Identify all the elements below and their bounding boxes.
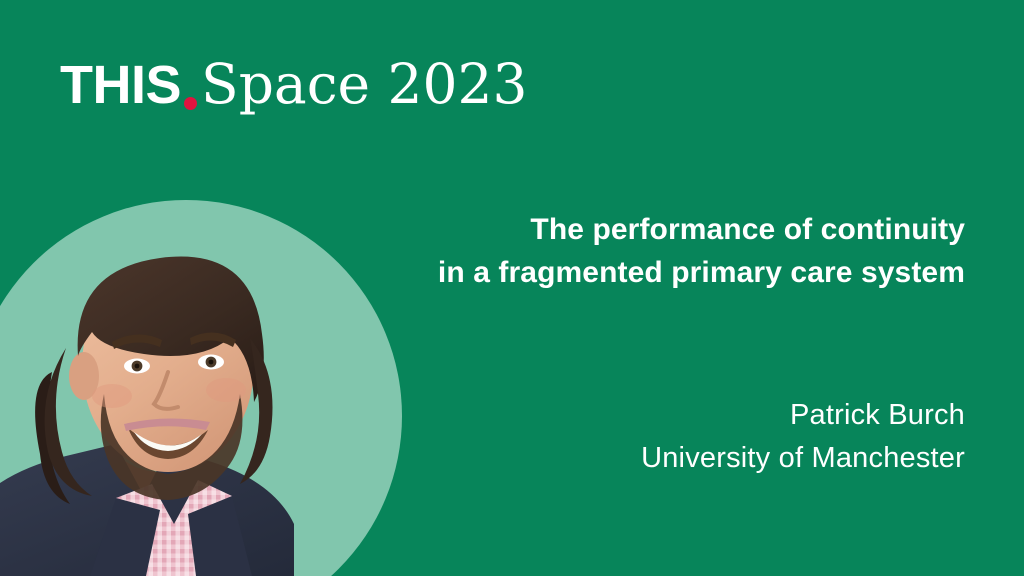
speaker-name: Patrick Burch (325, 394, 965, 437)
speaker-credit: Patrick Burch University of Manchester (325, 394, 965, 480)
portrait-figure (0, 257, 294, 576)
logo-mark-this: THIS (60, 58, 181, 112)
logo-red-dot-icon (184, 97, 197, 110)
cheek-right (206, 378, 246, 402)
speaker-affiliation: University of Manchester (325, 437, 965, 480)
cheek-left (92, 384, 132, 408)
speaker-portrait (0, 180, 330, 576)
pupil-left (135, 364, 140, 369)
title-slide: THIS Space 2023 The performance of conti… (0, 0, 1024, 576)
presentation-title: The performance of continuity in a fragm… (325, 209, 965, 294)
title-line-1: The performance of continuity (325, 209, 965, 252)
this-space-logo: THIS Space 2023 (60, 57, 528, 112)
title-line-2: in a fragmented primary care system (325, 252, 965, 295)
logo-wordmark-space: Space 2023 (201, 57, 527, 112)
pupil-right (209, 360, 214, 365)
